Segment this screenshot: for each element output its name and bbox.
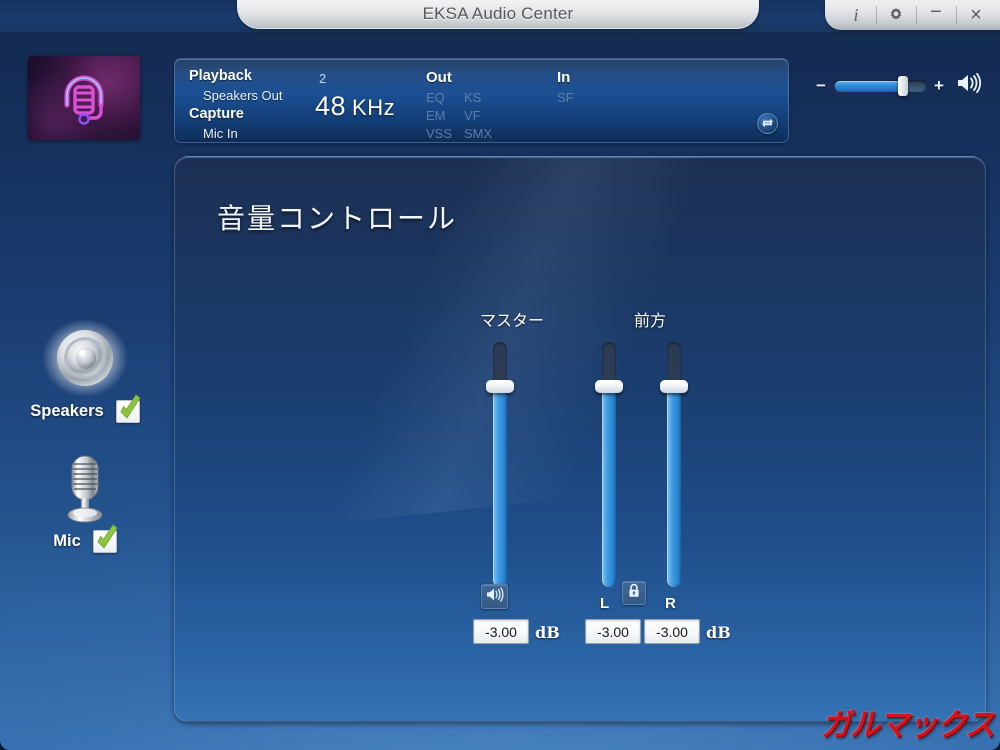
minimize-icon: − [930, 1, 942, 24]
window-title: EKSA Audio Center [423, 4, 574, 24]
out-tag-vss: VSS [426, 125, 456, 142]
lock-channels-icon [627, 583, 641, 603]
front-left-slider-fill [602, 386, 616, 587]
in-label: In [557, 69, 595, 86]
site-watermark: ガルマックス [821, 699, 994, 745]
master-group-label: マスター [457, 307, 567, 331]
front-right-slider-fill [667, 386, 681, 587]
front-left-slider-thumb[interactable] [595, 380, 623, 393]
global-volume-slider[interactable] [834, 80, 926, 92]
microphone-device-icon [10, 448, 160, 528]
swap-device-button[interactable] [757, 113, 778, 134]
volume-increase-button[interactable]: + [934, 76, 944, 96]
speaker-device-icon [10, 318, 160, 398]
master-slider-fill [493, 386, 507, 587]
mic-enabled-checkbox[interactable] [93, 530, 117, 553]
playback-device: Speakers Out [203, 86, 283, 105]
app-window: EKSA Audio Center i − × [0, 0, 1000, 750]
info-button[interactable]: i [836, 1, 876, 29]
speakers-enabled-checkbox[interactable] [116, 400, 140, 423]
sidebar-item-speakers[interactable]: Speakers [10, 318, 160, 423]
out-tag-em: EM [426, 107, 456, 124]
master-slider-thumb[interactable] [486, 380, 514, 393]
audio-status-bar: Playback Speakers Out Capture Mic In 2 4… [174, 58, 789, 143]
master-db-value[interactable]: -3.00 [473, 619, 529, 644]
master-volume-slider[interactable] [493, 342, 507, 587]
sample-rate-value: 48 [315, 91, 346, 121]
main-panel: 音量コントロール マスター -3.00 [174, 156, 986, 722]
title-bar: EKSA Audio Center i − × [0, 0, 1000, 32]
sidebar-mic-row: Mic [10, 530, 160, 553]
title-tab: EKSA Audio Center [237, 0, 759, 29]
in-tag-sf: SF [557, 89, 587, 106]
info-icon: i [853, 5, 858, 26]
sample-rate-unit: KHz [352, 95, 395, 120]
close-button[interactable]: × [956, 1, 996, 29]
out-tag-vf: VF [464, 107, 492, 124]
brand-logo [28, 56, 140, 140]
settings-button[interactable] [876, 1, 916, 29]
front-group-label: 前方 [595, 307, 705, 331]
status-out-column: Out EQ KS EM VF VSS SMX [426, 69, 492, 142]
in-tags: SF [557, 89, 595, 106]
global-volume-fill [835, 81, 905, 91]
global-volume-thumb[interactable] [898, 76, 908, 96]
speaker-mute-toggle-icon [486, 587, 504, 607]
front-left-slider[interactable] [602, 342, 616, 587]
front-right-slider-thumb[interactable] [660, 380, 688, 393]
sample-rate: 48KHz [315, 91, 395, 122]
front-left-label: L [600, 595, 609, 612]
window-controls: i − × [825, 0, 1000, 30]
volume-sliders-area: マスター -3.00 dB 前方 [175, 157, 985, 721]
playback-label: Playback [189, 67, 283, 86]
channel-count: 2 [319, 71, 326, 86]
master-mute-button[interactable] [481, 584, 508, 609]
sidebar-item-label: Mic [53, 532, 81, 551]
sidebar-item-label: Speakers [30, 402, 103, 421]
gear-icon [887, 6, 905, 24]
front-right-label: R [665, 595, 676, 612]
check-icon [114, 393, 144, 425]
volume-decrease-button[interactable]: − [816, 76, 826, 96]
capture-device: Mic In [203, 124, 283, 143]
front-channel-lock-button[interactable] [622, 581, 646, 605]
swap-arrows-icon [761, 115, 774, 133]
front-right-db-value[interactable]: -3.00 [644, 619, 700, 644]
out-tag-eq: EQ [426, 89, 456, 106]
sidebar-item-mic[interactable]: Mic [10, 448, 160, 553]
global-volume-control: − + [816, 72, 982, 99]
check-icon [91, 523, 121, 555]
status-in-column: In SF [557, 69, 595, 106]
speaker-on-icon[interactable] [956, 72, 982, 99]
out-label: Out [426, 69, 492, 86]
front-db-unit: dB [706, 623, 731, 642]
capture-label: Capture [189, 105, 283, 124]
sidebar-speakers-row: Speakers [10, 400, 160, 423]
out-tag-ks: KS [464, 89, 492, 106]
master-db-unit: dB [535, 623, 560, 642]
status-playback-capture: Playback Speakers Out Capture Mic In [189, 67, 283, 143]
out-tags: EQ KS EM VF VSS SMX [426, 89, 492, 142]
close-icon: × [970, 4, 982, 27]
minimize-button[interactable]: − [916, 1, 956, 29]
out-tag-smx: SMX [464, 125, 492, 142]
front-left-db-value[interactable]: -3.00 [585, 619, 641, 644]
front-right-slider[interactable] [667, 342, 681, 587]
